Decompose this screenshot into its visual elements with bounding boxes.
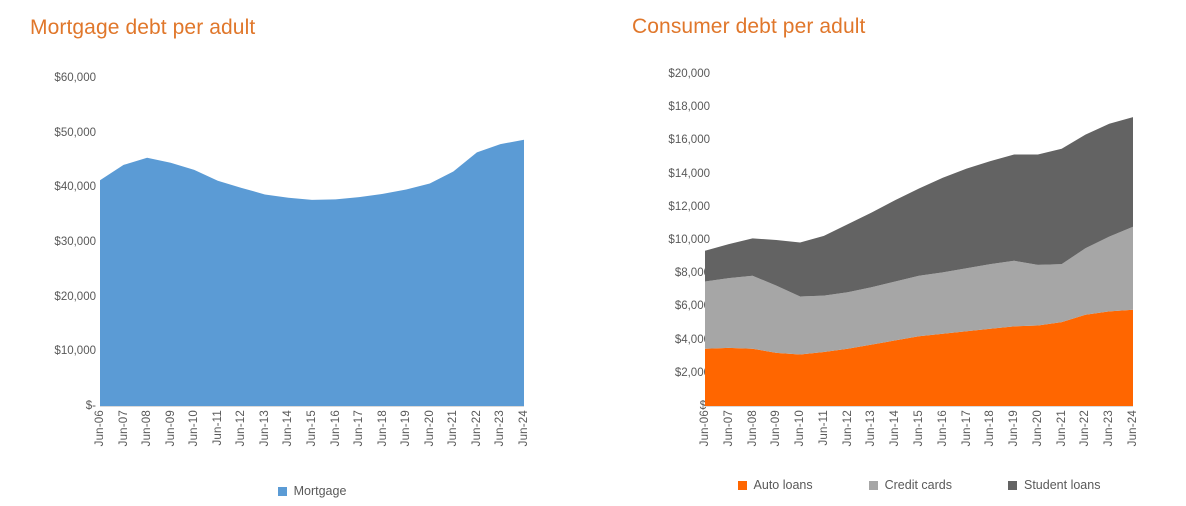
y-axis-tick-label: $10,000	[668, 234, 710, 246]
consumer-legend: Auto loansCredit cardsStudent loans	[705, 476, 1133, 494]
x-axis-tick-label: Jun-09	[770, 410, 782, 446]
y-axis-tick-label: $14,000	[668, 168, 710, 180]
x-axis-tick-label: Jun-13	[259, 410, 271, 446]
legend-label: Auto loans	[754, 478, 813, 492]
y-axis-tick-label: $20,000	[54, 291, 96, 303]
mortgage-legend: Mortgage	[100, 482, 524, 500]
x-axis-tick-label: Jun-19	[400, 410, 412, 446]
y-axis-tick-label: $18,000	[668, 101, 710, 113]
x-axis-tick-label: Jun-10	[188, 410, 200, 446]
x-axis-tick-label: Jun-06	[699, 410, 711, 446]
mortgage-chart-panel: Mortgage debt per adult $-$10,000$20,000…	[0, 0, 600, 506]
x-axis-tick-label: Jun-20	[1032, 410, 1044, 446]
x-axis-tick-label: Jun-18	[377, 410, 389, 446]
x-axis-tick-label: Jun-12	[842, 410, 854, 446]
x-axis-tick-label: Jun-24	[518, 410, 530, 446]
x-axis-tick-label: Jun-11	[818, 410, 830, 446]
consumer-axis-line	[705, 406, 1133, 407]
legend-item-credit-cards[interactable]: Credit cards	[869, 478, 952, 492]
y-axis-tick-label: $20,000	[668, 68, 710, 80]
mortgage-y-axis: $-$10,000$20,000$30,000$40,000$50,000$60…	[0, 0, 96, 506]
x-axis-tick-label: Jun-22	[1079, 410, 1091, 446]
x-axis-tick-label: Jun-14	[282, 410, 294, 446]
x-axis-tick-label: Jun-09	[165, 410, 177, 446]
legend-item-student-loans[interactable]: Student loans	[1008, 478, 1100, 492]
x-axis-tick-label: Jun-20	[424, 410, 436, 446]
x-axis-tick-label: Jun-15	[306, 410, 318, 446]
x-axis-tick-label: Jun-22	[471, 410, 483, 446]
x-axis-tick-label: Jun-13	[865, 410, 877, 446]
x-axis-tick-label: Jun-16	[937, 410, 949, 446]
x-axis-tick-label: Jun-16	[330, 410, 342, 446]
consumer-plot-area	[705, 74, 1133, 406]
y-axis-tick-label: $16,000	[668, 134, 710, 146]
x-axis-tick-label: Jun-18	[984, 410, 996, 446]
y-axis-tick-label: $10,000	[54, 345, 96, 357]
area-series-mortgage	[100, 140, 524, 406]
legend-swatch-icon	[1008, 481, 1017, 490]
legend-swatch-icon	[278, 487, 287, 496]
legend-label: Credit cards	[885, 478, 952, 492]
y-axis-tick-label: $40,000	[54, 181, 96, 193]
y-axis-tick-label: $60,000	[54, 72, 96, 84]
legend-label: Mortgage	[294, 484, 347, 498]
x-axis-tick-label: Jun-23	[494, 410, 506, 446]
legend-item-mortgage[interactable]: Mortgage	[278, 484, 347, 498]
x-axis-tick-label: Jun-11	[212, 410, 224, 446]
mortgage-x-axis: Jun-06Jun-07Jun-08Jun-09Jun-10Jun-11Jun-…	[100, 410, 524, 490]
x-axis-tick-label: Jun-19	[1008, 410, 1020, 446]
x-axis-tick-label: Jun-21	[1056, 410, 1068, 446]
y-axis-tick-label: $12,000	[668, 201, 710, 213]
y-axis-tick-label: $30,000	[54, 236, 96, 248]
legend-swatch-icon	[738, 481, 747, 490]
x-axis-tick-label: Jun-23	[1103, 410, 1115, 446]
x-axis-tick-label: Jun-17	[353, 410, 365, 446]
x-axis-tick-label: Jun-07	[118, 410, 130, 446]
x-axis-tick-label: Jun-21	[447, 410, 459, 446]
x-axis-tick-label: Jun-14	[889, 410, 901, 446]
mortgage-plot-area	[100, 78, 524, 406]
x-axis-tick-label: Jun-17	[961, 410, 973, 446]
y-axis-tick-label: $50,000	[54, 127, 96, 139]
x-axis-tick-label: Jun-12	[235, 410, 247, 446]
legend-swatch-icon	[869, 481, 878, 490]
legend-label: Student loans	[1024, 478, 1100, 492]
x-axis-tick-label: Jun-08	[747, 410, 759, 446]
x-axis-tick-label: Jun-10	[794, 410, 806, 446]
x-axis-tick-label: Jun-07	[723, 410, 735, 446]
legend-item-auto-loans[interactable]: Auto loans	[738, 478, 813, 492]
x-axis-tick-label: Jun-06	[94, 410, 106, 446]
x-axis-tick-label: Jun-24	[1127, 410, 1139, 446]
x-axis-tick-label: Jun-08	[141, 410, 153, 446]
consumer-y-axis: $-$2,000$4,000$6,000$8,000$10,000$12,000…	[630, 0, 710, 506]
x-axis-tick-label: Jun-15	[913, 410, 925, 446]
mortgage-axis-line	[100, 406, 524, 407]
